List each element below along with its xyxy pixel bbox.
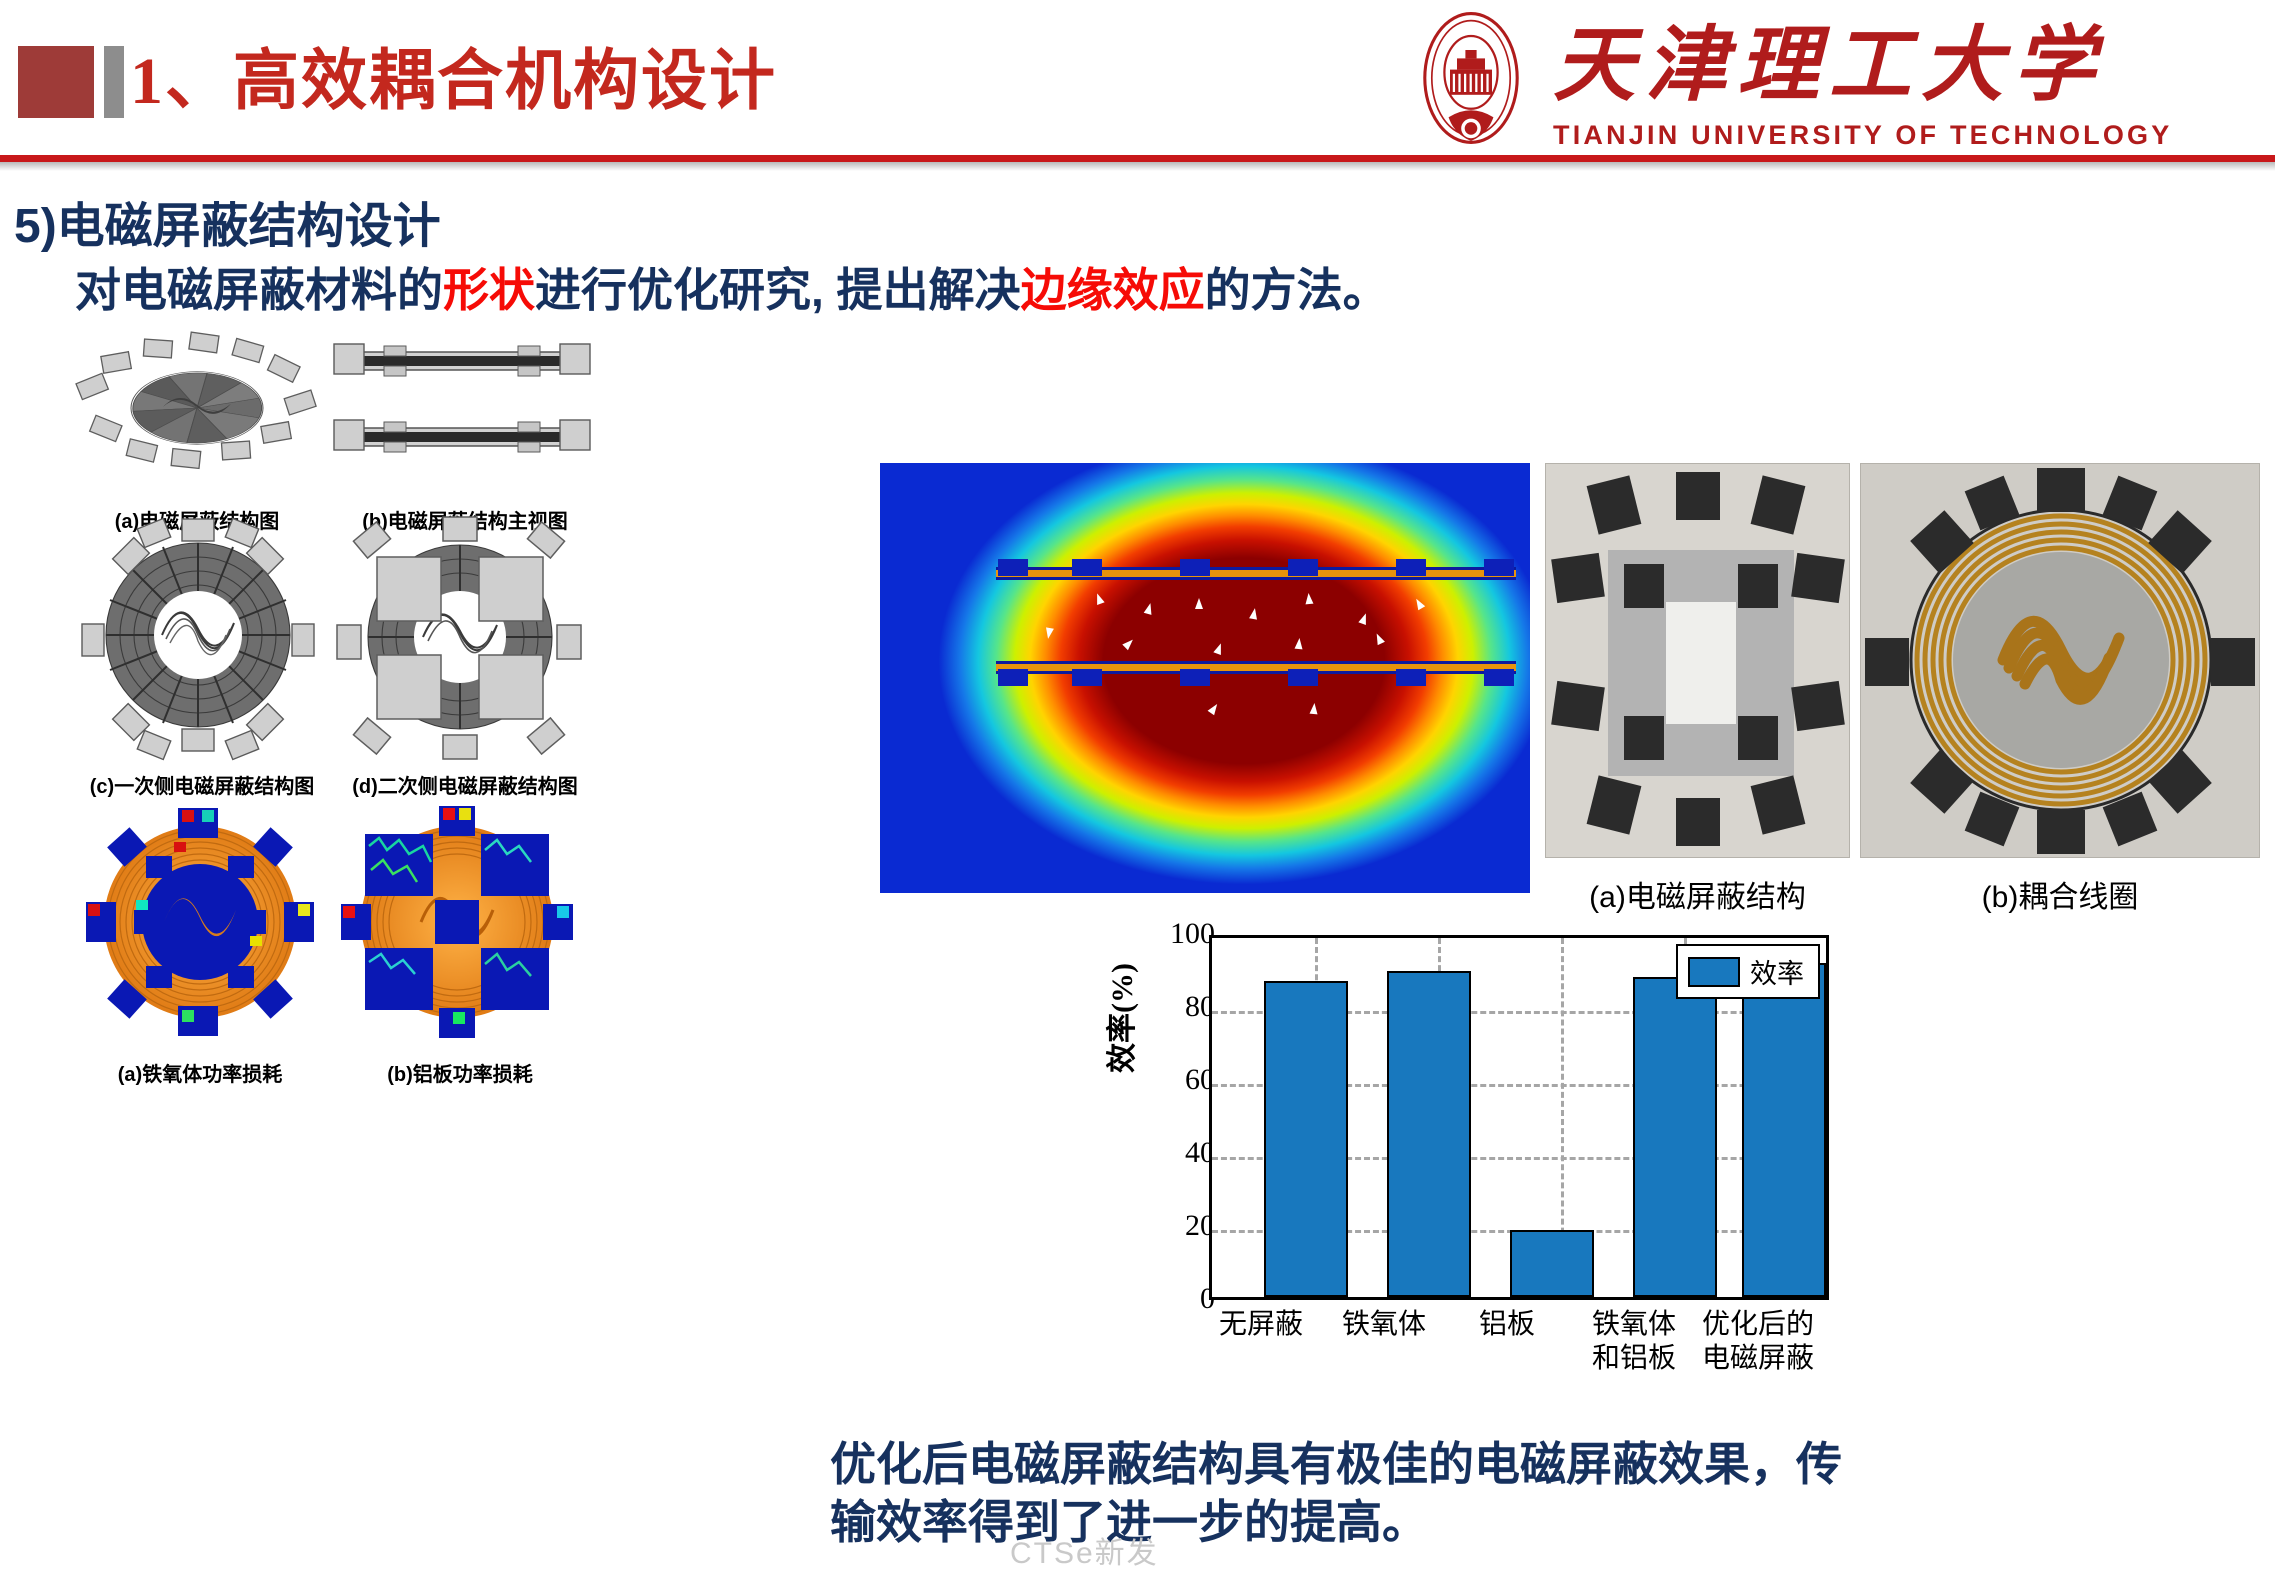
shield-block — [998, 669, 1028, 686]
figure-secondary-shield-structure — [335, 515, 585, 765]
field-vector-arrow — [1122, 637, 1135, 650]
header-red-square-decoration — [18, 46, 94, 118]
ferrite-tile — [1751, 775, 1806, 834]
legend-label: 效率 — [1750, 952, 1804, 991]
subtitle-text-1: 对电磁屏蔽材料的 — [75, 264, 443, 316]
bar-aluminium-plate — [1510, 1230, 1594, 1297]
y-tick-100: 100 — [1125, 917, 1215, 951]
field-vector-arrow — [1373, 632, 1385, 645]
figure-caption-f: (b)铝板功率损耗 — [325, 1058, 595, 1087]
field-vector-arrow — [1295, 638, 1304, 650]
shield-block — [1180, 559, 1210, 576]
watermark-text: CTSe新发 — [1010, 1528, 1159, 1572]
x-tick-line: 和铝板 — [1584, 1341, 1684, 1375]
ferrite-tile — [2211, 638, 2255, 686]
bar-ferrite — [1387, 971, 1471, 1297]
figure-aluminium-power-loss — [335, 800, 580, 1050]
y-tick-20: 20 — [1125, 1209, 1215, 1243]
shield-block — [1072, 669, 1102, 686]
ferrite-tile — [1738, 564, 1778, 608]
shield-block — [1396, 559, 1426, 576]
ferrite-tile — [1551, 681, 1605, 731]
field-vector-arrow — [1208, 702, 1221, 716]
shield-block — [1484, 669, 1514, 686]
field-vector-arrow — [1305, 593, 1314, 605]
header-divider-shadow — [0, 162, 2275, 171]
field-vector-arrow — [1093, 592, 1104, 605]
subtitle-highlight-1: 形状 — [443, 264, 535, 316]
x-tick-line: 铁氧体 — [1338, 1307, 1430, 1341]
center-opening — [1666, 602, 1736, 724]
university-name-english: TIANJIN UNIVERSITY OF TECHNOLOGY — [1553, 120, 2172, 151]
conclusion-line-1: 优化后电磁屏蔽结构具有极佳的电磁屏蔽效果，传 — [830, 1435, 2250, 1493]
bar-optimized-shield — [1742, 963, 1826, 1297]
photo-shield-structure — [1545, 463, 1850, 858]
section-subtitle: 对电磁屏蔽材料的形状进行优化研究, 提出解决边缘效应的方法。 — [75, 254, 1389, 320]
photo-coupling-coil — [1860, 463, 2260, 858]
field-vector-arrow — [1213, 642, 1224, 655]
ferrite-tile — [1587, 775, 1642, 834]
university-name-chinese: 天津理工大学 — [1553, 20, 2105, 112]
y-tick-40: 40 — [1125, 1136, 1215, 1170]
university-logo: 天津理工大学 TIANJIN UNIVERSITY OF TECHNOLOGY — [1401, 6, 2261, 156]
x-tick-line: 电磁屏蔽 — [1693, 1341, 1823, 1375]
page-title: 1、高效耦合机构设计 — [130, 44, 777, 120]
field-vector-arrow — [1044, 627, 1054, 639]
ferrite-tile — [1676, 798, 1720, 846]
y-tick-80: 80 — [1125, 990, 1215, 1024]
bar-ferrite-and-aluminium — [1633, 977, 1717, 1297]
figure-primary-shield-structure — [78, 515, 318, 765]
ferrite-tile — [1551, 553, 1605, 603]
efficiency-bar-chart: 效率(%) 100 80 60 40 20 0 效率 无屏蔽 铁氧体 — [1105, 925, 1905, 1405]
ferrite-tile — [1587, 475, 1642, 534]
figure-caption-e: (a)铁氧体功率损耗 — [60, 1058, 340, 1087]
header-divider-red — [0, 155, 2275, 162]
figure-caption-c: (c)一次侧电磁屏蔽结构图 — [52, 770, 352, 799]
shield-block — [1484, 559, 1514, 576]
ferrite-tile — [2037, 468, 2085, 512]
ferrite-tile — [1865, 638, 1909, 686]
chart-legend: 效率 — [1676, 944, 1820, 999]
shield-block — [1180, 669, 1210, 686]
x-tick-line: 铝板 — [1461, 1307, 1553, 1341]
shield-block — [1072, 559, 1102, 576]
subtitle-text-3: 的方法。 — [1205, 264, 1389, 316]
y-tick-0: 0 — [1125, 1282, 1215, 1316]
field-vector-arrow — [1413, 597, 1425, 611]
ferrite-tile — [1624, 564, 1664, 608]
ferrite-tile — [1791, 681, 1845, 731]
legend-color-swatch — [1688, 957, 1740, 987]
slide-header: 1、高效耦合机构设计 天津理工大学 TIANJIN UNIVERSITY OF … — [0, 0, 2275, 178]
x-tick-ferrite: 铁氧体 — [1338, 1307, 1430, 1341]
university-seal-icon — [1401, 8, 1541, 148]
x-tick-aluminium-plate: 铝板 — [1461, 1307, 1553, 1341]
x-tick-line: 无屏蔽 — [1215, 1307, 1307, 1341]
figure-ferrite-power-loss — [78, 800, 323, 1050]
chart-plot-area: 效率 — [1209, 935, 1829, 1300]
ferrite-tile — [1751, 475, 1806, 534]
figure-caption-d: (d)二次侧电磁屏蔽结构图 — [310, 770, 620, 799]
x-tick-line: 铁氧体 — [1584, 1307, 1684, 1341]
shield-block — [998, 559, 1028, 576]
field-vector-arrow — [1358, 612, 1369, 625]
x-tick-optimized-shield: 优化后的 电磁屏蔽 — [1693, 1307, 1823, 1375]
field-vector-arrow — [1144, 602, 1155, 615]
ferrite-tile — [1738, 716, 1778, 760]
magnetic-field-simulation-heatmap — [880, 463, 1530, 893]
shield-block — [1288, 559, 1318, 576]
field-vector-arrow — [1249, 607, 1259, 619]
header-gray-bar-decoration — [104, 46, 124, 118]
figure-shield-front-view — [330, 330, 595, 485]
photo-caption-b: (b)耦合线圈 — [1860, 872, 2260, 916]
bar-no-shield — [1264, 981, 1348, 1297]
shield-block — [1288, 669, 1318, 686]
x-tick-no-shield: 无屏蔽 — [1215, 1307, 1307, 1341]
subtitle-text-2: 进行优化研究, 提出解决 — [535, 264, 1021, 316]
ferrite-tile — [1676, 472, 1720, 520]
ferrite-tile — [2037, 810, 2085, 854]
y-tick-60: 60 — [1125, 1063, 1215, 1097]
ferrite-tile — [1791, 553, 1845, 603]
x-tick-ferrite-and-aluminium: 铁氧体 和铝板 — [1584, 1307, 1684, 1375]
field-vector-arrow — [1310, 703, 1319, 715]
section-heading: 5)电磁屏蔽结构设计 — [14, 186, 441, 256]
ferrite-tile — [1624, 716, 1664, 760]
shield-block — [1396, 669, 1426, 686]
figure-shield-structure-3d — [72, 320, 322, 495]
x-tick-line: 优化后的 — [1693, 1307, 1823, 1341]
photo-caption-a: (a)电磁屏蔽结构 — [1545, 872, 1850, 916]
subtitle-highlight-2: 边缘效应 — [1021, 264, 1205, 316]
field-vector-arrow — [1195, 598, 1203, 609]
